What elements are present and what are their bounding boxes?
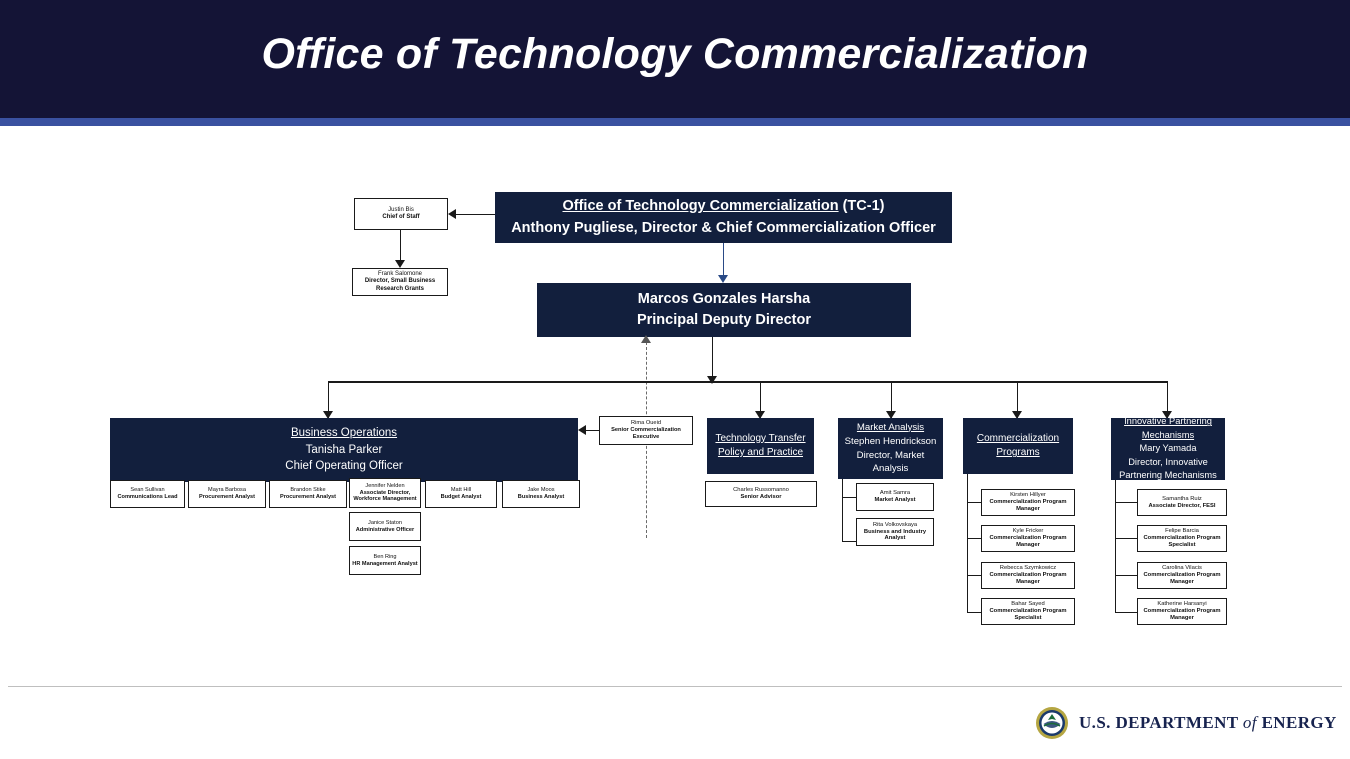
doe-text-department: U.S. DEPARTMENT (1079, 713, 1238, 732)
innovative-partnering-title: Innovative Partnering Mechanisms (1111, 415, 1225, 442)
edge-market-analysis-spine (842, 479, 843, 541)
banner-accent-rule (0, 118, 1350, 126)
staff-name: Rita Volkovskaya (873, 522, 917, 529)
node-staff-innovative-partnering-0[interactable]: Samantha Ruiz Associate Director, FESI (1137, 489, 1227, 516)
root-title-underlined: Office of Technology Commercialization (563, 198, 839, 214)
staff-role: HR Management Analyst (352, 561, 417, 568)
node-staff-market-analysis-1[interactable]: Rita Volkovskaya Business and Industry A… (856, 518, 934, 546)
node-staff-market-analysis-0[interactable]: Amit Samra Market Analyst (856, 483, 934, 511)
staff-role: Commercialization Program Specialist (982, 608, 1074, 622)
technology-transfer-title: Technology Transfer Policy and Practice (707, 432, 814, 461)
footer-divider (8, 686, 1342, 687)
node-staff-commercialization-programs-3[interactable]: Bahar Sayed Commercialization Program Sp… (981, 598, 1075, 625)
title-banner: Office of Technology Commercialization (0, 0, 1350, 118)
edge-root-to-chief-of-staff (456, 214, 495, 215)
staff-name: Ben Ring (373, 554, 396, 561)
staff-role: Commercialization Program Manager (982, 535, 1074, 549)
edge-commercialization-programs-branch-2 (967, 575, 982, 576)
edge-arrow-deputy (718, 275, 728, 283)
staff-name: Samantha Ruiz (1162, 496, 1202, 503)
staff-role: Associate Director, Workforce Management (351, 490, 419, 503)
edge-chief-of-staff-to-small-business (400, 230, 401, 260)
staff-name: Mayra Barbosa (208, 487, 246, 494)
edge-root-to-deputy (723, 243, 724, 275)
staff-name: Kyle Fricker (1013, 528, 1044, 535)
market-analysis-role: Director, Market Analysis (838, 449, 943, 477)
staff-role: Market Analyst (874, 497, 915, 504)
node-division-commercialization-programs[interactable]: Commercialization Programs (963, 418, 1073, 474)
edge-commercialization-programs-branch-3 (967, 612, 982, 613)
edge-arrow-chief-of-staff (448, 209, 456, 219)
edge-arrow-deputy-stem (707, 376, 717, 384)
staff-role: Business and Industry Analyst (857, 529, 933, 543)
market-analysis-title: Market Analysis (857, 421, 924, 435)
deputy-role: Principal Deputy Director (637, 310, 811, 331)
node-office-of-technology-commercialization[interactable]: Office of Technology Commercialization (… (495, 192, 952, 243)
node-staff-business-operations-6[interactable]: Janice Staton Administrative Officer (349, 512, 421, 541)
node-principal-deputy-director[interactable]: Marcos Gonzales Harsha Principal Deputy … (537, 283, 911, 337)
chief-of-staff-role: Chief of Staff (382, 214, 419, 221)
edge-market-analysis-branch-0 (842, 497, 857, 498)
staff-role: Budget Analyst (441, 494, 482, 501)
distribution-bar (328, 381, 1168, 383)
node-staff-technology-transfer-0[interactable]: Charles Russomanno Senior Advisor (705, 481, 817, 507)
staff-name: Rebecca Szymkowicz (1000, 565, 1056, 572)
node-staff-business-operations-2[interactable]: Brandon Stike Procurement Analyst (269, 480, 347, 508)
node-small-business-research-grants[interactable]: Frank Salomone Director, Small Business … (352, 268, 448, 296)
staff-role: Commercialization Program Manager (1138, 572, 1226, 586)
staff-role: Commercialization Program Specialist (1138, 535, 1226, 549)
edge-commercialization-programs-branch-1 (967, 538, 982, 539)
edge-commercialization-programs-spine (967, 474, 968, 612)
staff-role: Commercialization Program Manager (1138, 608, 1226, 622)
node-staff-business-operations-1[interactable]: Mayra Barbosa Procurement Analyst (188, 480, 266, 508)
doe-seal-icon (1035, 706, 1069, 740)
edge-arrow-business-operations-from-exec (578, 425, 586, 435)
staff-role: Associate Director, FESI (1148, 503, 1215, 510)
edge-innovative-partnering-branch-2 (1115, 575, 1137, 576)
staff-name: Carolina Vilacis (1162, 565, 1202, 572)
senior-exec-role: Senior Commercialization Executive (601, 427, 691, 440)
root-title-line: Office of Technology Commercialization (… (563, 196, 885, 217)
business-operations-title: Business Operations (291, 425, 397, 442)
staff-name: Charles Russomanno (733, 487, 789, 494)
doe-text-of: of (1243, 713, 1257, 732)
node-staff-business-operations-3[interactable]: Jennifer Nelden Associate Director, Work… (349, 478, 421, 508)
commercialization-programs-title: Commercialization Programs (963, 432, 1073, 461)
staff-name: Janice Staton (368, 520, 402, 527)
doe-text-energy: ENERGY (1262, 713, 1337, 732)
deputy-name: Marcos Gonzales Harsha (638, 289, 810, 310)
edge-arrow-small-business (395, 260, 405, 268)
staff-role: Procurement Analyst (199, 494, 255, 501)
node-staff-innovative-partnering-2[interactable]: Carolina Vilacis Commercialization Progr… (1137, 562, 1227, 589)
node-staff-innovative-partnering-3[interactable]: Katherine Harsanyi Commercialization Pro… (1137, 598, 1227, 625)
node-division-market-analysis[interactable]: Market Analysis Stephen Hendrickson Dire… (838, 418, 943, 479)
staff-name: Katherine Harsanyi (1157, 601, 1206, 608)
node-staff-business-operations-7[interactable]: Ben Ring HR Management Analyst (349, 546, 421, 575)
staff-name: Kirsten Hillyer (1010, 492, 1046, 499)
node-staff-business-operations-4[interactable]: Matt Hill Budget Analyst (425, 480, 497, 508)
root-title-code: (TC-1) (839, 198, 885, 214)
staff-name: Sean Sullivan (130, 487, 164, 494)
org-chart-canvas: Office of Technology Commercialization (… (0, 126, 1350, 686)
doe-logo-text: U.S. DEPARTMENT of ENERGY (1079, 713, 1337, 733)
node-chief-of-staff[interactable]: Justin Bis Chief of Staff (354, 198, 448, 230)
staff-name: Brandon Stike (290, 487, 325, 494)
innovative-partnering-name: Mary Yamada (1139, 442, 1196, 455)
staff-name: Felipe Barcia (1165, 528, 1199, 535)
edge-commercialization-programs-branch-0 (967, 502, 982, 503)
node-senior-commercialization-executive[interactable]: Rima Oueid Senior Commercialization Exec… (599, 416, 693, 445)
node-staff-commercialization-programs-2[interactable]: Rebecca Szymkowicz Commercialization Pro… (981, 562, 1075, 589)
small-business-name: Frank Salomone (378, 271, 422, 278)
node-division-business-operations[interactable]: Business Operations Tanisha Parker Chief… (110, 418, 578, 482)
staff-role: Commercialization Program Manager (982, 572, 1074, 586)
staff-name: Jennifer Nelden (365, 483, 404, 490)
staff-role: Administrative Officer (356, 527, 414, 534)
staff-role: Procurement Analyst (280, 494, 336, 501)
staff-role: Senior Advisor (740, 494, 781, 501)
node-division-technology-transfer[interactable]: Technology Transfer Policy and Practice (707, 418, 814, 474)
edge-innovative-partnering-branch-1 (1115, 538, 1137, 539)
business-operations-name: Tanisha Parker (306, 442, 383, 459)
node-division-innovative-partnering[interactable]: Innovative Partnering Mechanisms Mary Ya… (1111, 418, 1225, 480)
senior-exec-name: Rima Oueid (631, 420, 661, 427)
staff-name: Matt Hill (451, 487, 471, 494)
edge-innovative-partnering-branch-3 (1115, 612, 1137, 613)
staff-role: Commercialization Program Manager (982, 499, 1074, 513)
innovative-partnering-role: Director, Innovative Partnering Mechanis… (1111, 456, 1225, 483)
staff-role: Communications Lead (118, 494, 178, 501)
edge-senior-exec-to-business-operations (586, 430, 600, 431)
root-subtitle: Anthony Pugliese, Director & Chief Comme… (511, 218, 936, 239)
edge-innovative-partnering-branch-0 (1115, 502, 1137, 503)
market-analysis-name: Stephen Hendrickson (845, 435, 937, 449)
edge-market-analysis-branch-1 (842, 541, 857, 542)
business-operations-role: Chief Operating Officer (285, 458, 402, 475)
node-staff-commercialization-programs-0[interactable]: Kirsten Hillyer Commercialization Progra… (981, 489, 1075, 516)
chief-of-staff-name: Justin Bis (388, 207, 414, 214)
node-staff-business-operations-5[interactable]: Jake Moos Business Analyst (502, 480, 580, 508)
page-title: Office of Technology Commercialization (0, 30, 1350, 79)
edge-deputy-stem (712, 337, 713, 379)
node-staff-commercialization-programs-1[interactable]: Kyle Fricker Commercialization Program M… (981, 525, 1075, 552)
staff-name: Bahar Sayed (1011, 601, 1045, 608)
edge-innovative-partnering-spine (1115, 480, 1116, 612)
staff-role: Business Analyst (518, 494, 564, 501)
node-staff-business-operations-0[interactable]: Sean Sullivan Communications Lead (110, 480, 185, 508)
edge-arrow-senior-exec (641, 335, 651, 343)
node-staff-innovative-partnering-1[interactable]: Felipe Barcia Commercialization Program … (1137, 525, 1227, 552)
small-business-role: Director, Small Business Research Grants (355, 278, 445, 292)
doe-logo: U.S. DEPARTMENT of ENERGY (1035, 706, 1337, 740)
staff-name: Amit Samra (880, 490, 910, 497)
staff-name: Jake Moos (527, 487, 554, 494)
